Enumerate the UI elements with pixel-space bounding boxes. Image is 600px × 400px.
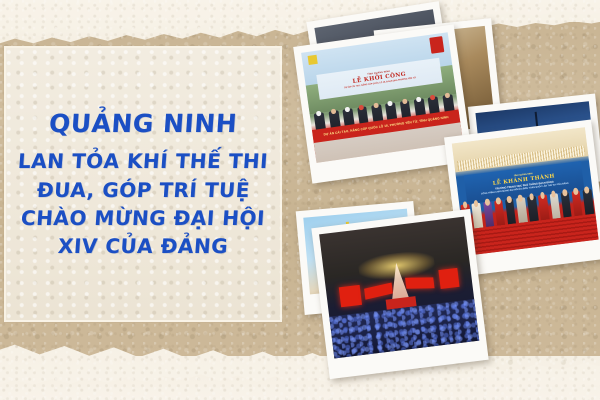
person-figure bbox=[538, 195, 549, 221]
person-figure bbox=[472, 203, 483, 229]
headline-line-3: ĐUA, GÓP TRÍ TUỆ bbox=[36, 180, 250, 201]
headline-line-2: LAN TỎA KHÍ THẾ THI bbox=[17, 151, 268, 172]
photo-collage: TỈNH QUẢNG NINH LỄ KHỞI CÔNG DỰ ÁN CẢI T… bbox=[296, 0, 600, 400]
person-figure bbox=[516, 197, 527, 223]
poster-root: QUẢNG NINH LAN TỎA KHÍ THẾ THI ĐUA, GÓP … bbox=[0, 0, 600, 400]
headline-line-5: XIV CỦA ĐẢNG bbox=[57, 236, 229, 257]
photo-night-ceremony-stage bbox=[311, 209, 488, 379]
person-figure bbox=[571, 191, 582, 217]
headline-line-1: QUẢNG NINH bbox=[48, 111, 238, 138]
led-screen-right bbox=[438, 268, 459, 289]
photo-school-inauguration-image: TỈNH QUẢNG NINH LỄ KHÁNH THÀNH TRƯỜNG TR… bbox=[452, 127, 599, 255]
person-figure bbox=[527, 196, 538, 222]
led-screen-center-right bbox=[405, 277, 434, 289]
person-figure bbox=[583, 189, 594, 215]
person-figure bbox=[560, 192, 571, 218]
quang-ninh-logo-icon bbox=[429, 36, 444, 53]
person-figure bbox=[494, 200, 505, 226]
photo-night-stage-image bbox=[319, 217, 479, 359]
person-figure bbox=[549, 193, 560, 219]
person-figure bbox=[505, 199, 516, 225]
led-screen-left bbox=[339, 285, 362, 307]
headline-card: QUẢNG NINH LAN TỎA KHÍ THẾ THI ĐUA, GÓP … bbox=[4, 46, 282, 322]
led-screen-center-left bbox=[364, 282, 393, 299]
photo-groundbreaking-image: TỈNH QUẢNG NINH LỄ KHỞI CÔNG DỰ ÁN CẢI T… bbox=[301, 32, 463, 163]
audience-crowd bbox=[329, 299, 479, 359]
headline-line-4: CHÀO MỪNG ĐẠI HỘI bbox=[20, 208, 265, 229]
crane-icon bbox=[308, 55, 318, 65]
person-figure bbox=[483, 201, 494, 227]
